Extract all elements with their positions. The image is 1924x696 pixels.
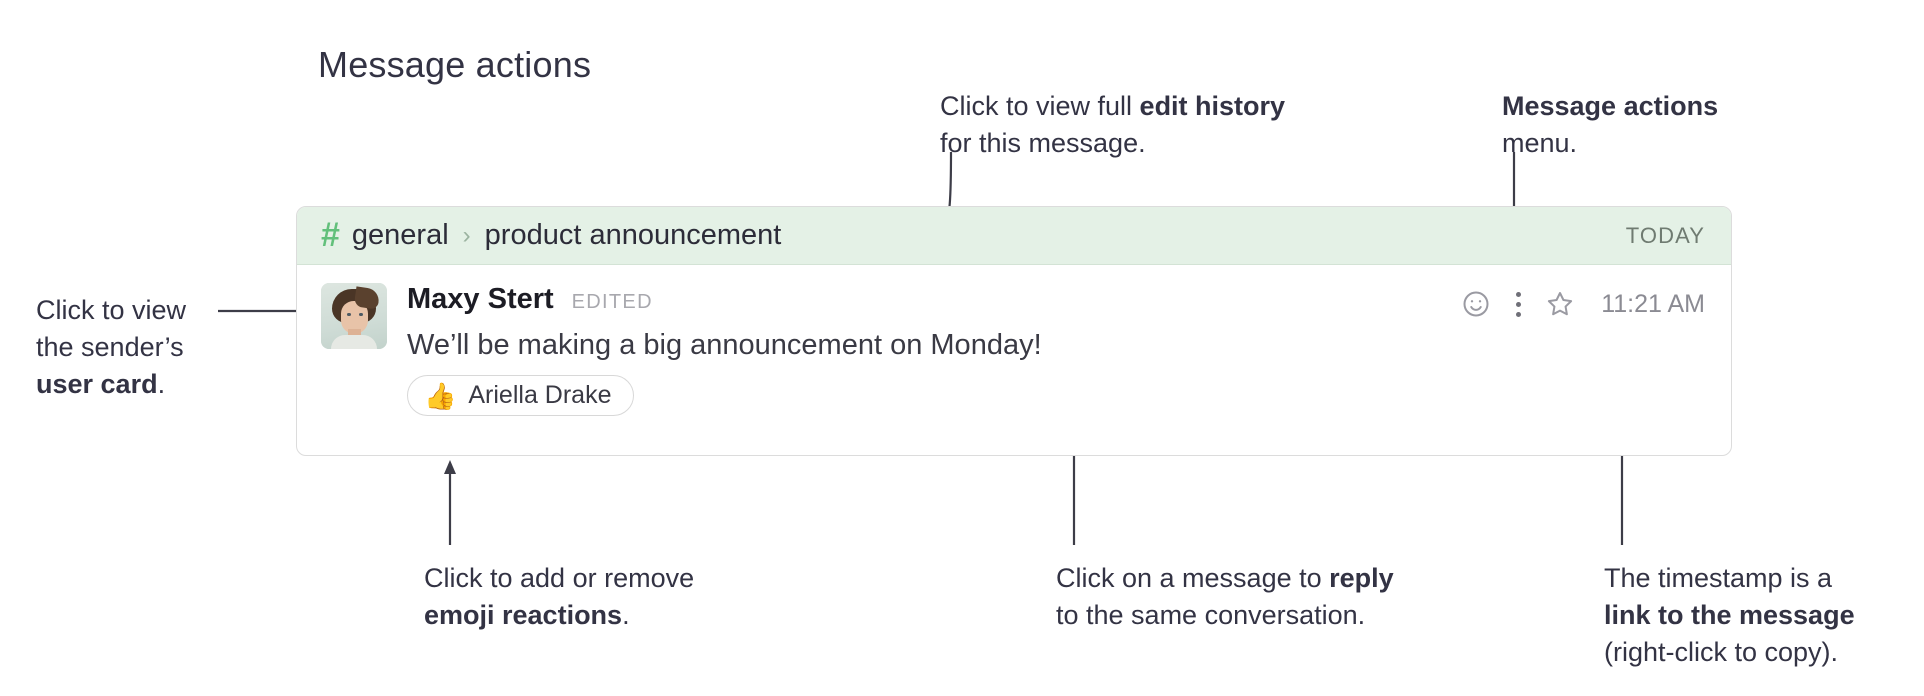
annotation-timestamp-line2-bold: link to the message (1604, 600, 1855, 630)
annotation-reply-line1: Click on a message to reply (1056, 560, 1394, 597)
annotation-timestamp-line2: link to the message (1604, 597, 1855, 634)
annotation-edit-history-line1: Click to view full edit history (940, 88, 1285, 125)
annotation-reply-line2: to the same conversation. (1056, 597, 1394, 634)
annotation-user-card-line2: the sender’s (36, 329, 186, 366)
annotation-timestamp-line3: (right-click to copy). (1604, 634, 1855, 671)
page-title: Message actions (318, 44, 591, 86)
avatar[interactable] (321, 283, 387, 349)
stream-name-link[interactable]: general (352, 219, 449, 252)
reaction-user-name: Ariella Drake (468, 381, 611, 410)
message-row[interactable]: Maxy Stert EDITED We’ll be making a big … (297, 265, 1731, 416)
date-label: TODAY (1626, 223, 1705, 249)
annotation-message-actions-line2: menu. (1502, 125, 1718, 162)
annotation-user-card-line3: user card. (36, 366, 186, 403)
annotation-emoji-line2-bold: emoji reactions (424, 600, 622, 630)
arrow-emoji-reactions-head (444, 460, 456, 474)
reactions-row: 👍 Ariella Drake (407, 375, 1705, 416)
annotation-edit-history: Click to view full edit history for this… (940, 88, 1285, 162)
annotation-user-card-line3-post: . (158, 369, 166, 399)
chevron-right-icon: › (463, 224, 471, 248)
message-timestamp-link[interactable]: 11:21 AM (1601, 290, 1705, 319)
annotation-emoji-line2-post: . (622, 600, 630, 630)
annotation-edit-history-line1-bold: edit history (1140, 91, 1286, 121)
annotation-reply-line1-bold: reply (1329, 563, 1394, 593)
annotation-message-actions: Message actions menu. (1502, 88, 1718, 162)
annotation-user-card-line1: Click to view (36, 292, 186, 329)
annotation-timestamp: The timestamp is a link to the message (… (1604, 560, 1855, 671)
sender-name[interactable]: Maxy Stert (407, 283, 554, 316)
annotation-emoji-line1: Click to add or remove (424, 560, 694, 597)
message-controls: 11:21 AM (1461, 289, 1705, 319)
annotated-screenshot: Message actions Click to view full edit … (0, 0, 1924, 696)
annotation-emoji-line2: emoji reactions. (424, 597, 694, 634)
annotation-message-actions-line1: Message actions (1502, 88, 1718, 125)
annotation-timestamp-line1: The timestamp is a (1604, 560, 1855, 597)
annotation-reply: Click on a message to reply to the same … (1056, 560, 1394, 634)
annotation-reply-line1-pre: Click on a message to (1056, 563, 1329, 593)
annotation-edit-history-line2: for this message. (940, 125, 1285, 162)
edited-label[interactable]: EDITED (572, 291, 653, 314)
hash-icon: # (321, 218, 340, 252)
emoji-reaction-icon[interactable] (1461, 289, 1491, 319)
reaction-pill[interactable]: 👍 Ariella Drake (407, 375, 634, 416)
message-card: # general › product announcement TODAY M… (296, 206, 1732, 456)
annotation-emoji-reactions: Click to add or remove emoji reactions. (424, 560, 694, 634)
annotation-message-actions-line1-bold: Message actions (1502, 91, 1718, 121)
annotation-user-card: Click to view the sender’s user card. (36, 292, 186, 403)
star-message-icon[interactable] (1545, 289, 1575, 319)
stream-topic-header: # general › product announcement TODAY (297, 207, 1731, 265)
message-actions-menu-icon[interactable] (1513, 292, 1523, 317)
annotation-edit-history-line1-pre: Click to view full (940, 91, 1140, 121)
annotation-user-card-line3-bold: user card (36, 369, 158, 399)
message-body-text[interactable]: We’ll be making a big announcement on Mo… (407, 325, 1705, 365)
thumbs-up-icon: 👍 (424, 383, 456, 409)
topic-name-link[interactable]: product announcement (485, 219, 782, 252)
